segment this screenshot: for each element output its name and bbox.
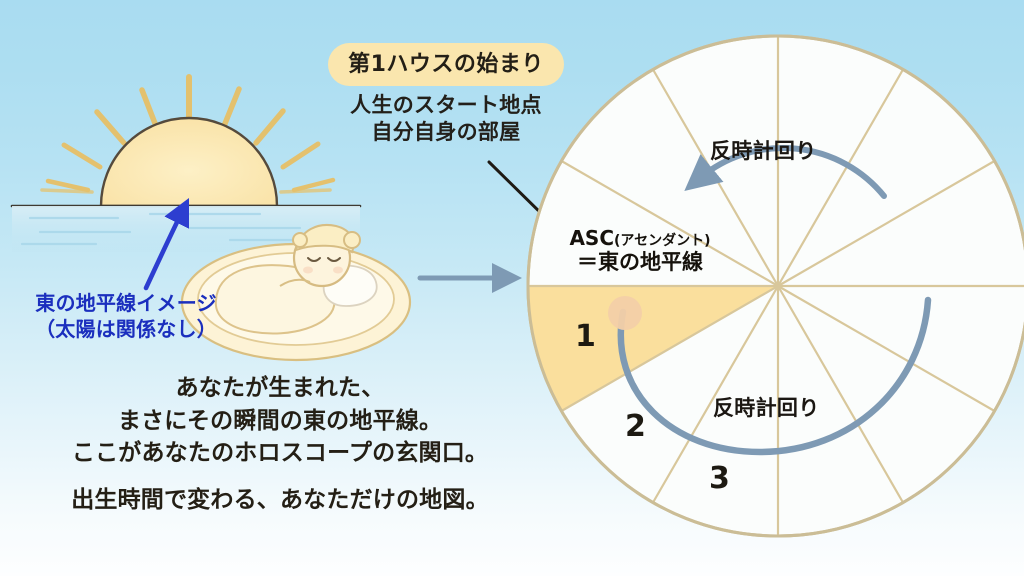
horizon-image-note: 東の地平線イメージ （太陽は関係なし）: [6, 290, 246, 343]
first-house-subtitle: 人生のスタート地点 自分自身の部屋: [330, 92, 562, 146]
rotation-label-bottom: 反時計回り: [713, 392, 820, 422]
horizon-blue-arrow: [146, 212, 182, 288]
caption-line-1: あなたが生まれた、: [20, 372, 540, 405]
caption-spacer: [20, 470, 540, 484]
rotation-arrow-bottom: [621, 300, 928, 452]
bottom-caption: あなたが生まれた、 まさにその瞬間の東の地平線。 ここがあなたのホロスコープの玄…: [20, 372, 540, 517]
horizon-note-line-1: 東の地平線イメージ: [6, 290, 246, 316]
asc-annotation: ASC(アセンダント) ＝東の地平線: [540, 226, 740, 276]
horizon-note-line-2: （太陽は関係なし）: [6, 316, 246, 342]
house-1-marker-dot: [608, 296, 642, 330]
horoscope-wheel: [528, 36, 1024, 536]
asc-reading: (アセンダント): [614, 233, 711, 249]
house-number-3: 3: [709, 461, 730, 496]
caption-line-2: まさにその瞬間の東の地平線。: [20, 405, 540, 438]
slide-root: 第1ハウスの始まり 人生のスタート地点 自分自身の部屋 ASC(アセンダント) …: [0, 0, 1024, 576]
subtitle-line-2: 自分自身の部屋: [330, 119, 562, 146]
caption-line-3: ここがあなたのホロスコープの玄関口。: [20, 437, 540, 470]
first-house-badge: 第1ハウスの始まり: [328, 43, 564, 86]
caption-line-4: 出生時間で変わる、あなただけの地図。: [20, 484, 540, 517]
first-house-badge-label: 第1ハウスの始まり: [348, 54, 544, 76]
asc-abbrev: ASC: [569, 226, 614, 250]
subtitle-line-1: 人生のスタート地点: [330, 92, 562, 119]
badge-to-wheel-pointer: [489, 162, 551, 223]
asc-abbrev-line: ASC(アセンダント): [540, 226, 740, 250]
rotation-label-top: 反時計回り: [710, 135, 817, 165]
house-number-2: 2: [625, 409, 646, 444]
sunrise-illustration: [12, 77, 360, 288]
house-number-1: 1: [575, 319, 596, 354]
asc-equals-line: ＝東の地平線: [540, 250, 740, 276]
